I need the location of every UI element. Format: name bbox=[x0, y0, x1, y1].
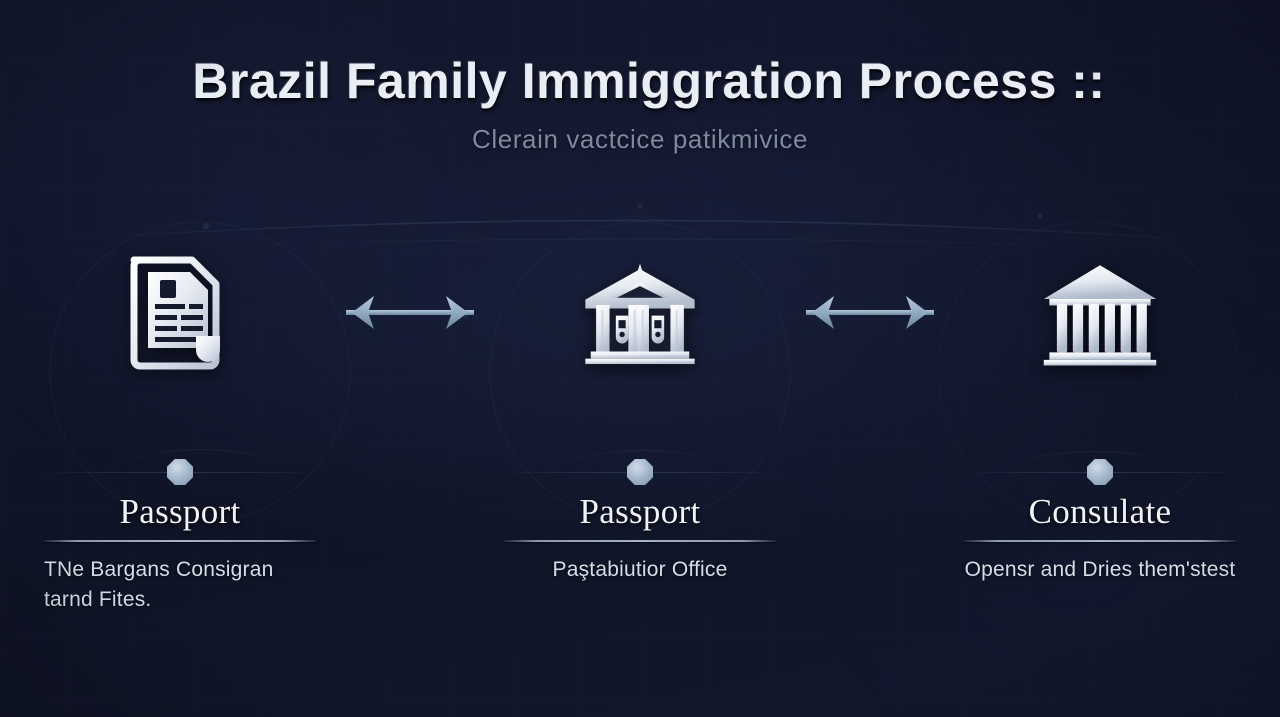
node-description: TNe Bargans Consigran tarnd Fites. bbox=[44, 555, 316, 615]
page-title: Brazil Family Immiggration Process :: bbox=[0, 52, 1280, 110]
passport-document-icon[interactable] bbox=[120, 248, 240, 378]
connector-1 bbox=[320, 248, 500, 378]
node-title: Passport bbox=[119, 494, 240, 531]
node-marker-3-slot bbox=[960, 459, 1240, 485]
labels-row: Passport TNe Bargans Consigran tarnd Fit… bbox=[0, 494, 1280, 614]
node-description: Paştabiutior Office bbox=[553, 555, 728, 585]
node-title: Passport bbox=[579, 494, 700, 531]
page-subtitle: Clerain vactcice patikmivice bbox=[0, 124, 1280, 155]
node-description: Opensr and Dries them'stest bbox=[965, 555, 1236, 585]
node-label-2: Passport Paştabiutior Office bbox=[500, 494, 780, 585]
node-marker-dot[interactable] bbox=[1087, 459, 1113, 485]
node-title: Consulate bbox=[1029, 494, 1172, 531]
title-divider bbox=[964, 540, 1236, 542]
node-marker-1-slot bbox=[40, 459, 320, 485]
node-markers-row bbox=[0, 452, 1280, 492]
connector-2 bbox=[780, 248, 960, 378]
flow-node-1[interactable] bbox=[40, 248, 320, 378]
flow-node-2[interactable] bbox=[500, 248, 780, 378]
node-marker-2-slot bbox=[500, 459, 780, 485]
diagram-canvas: Brazil Family Immiggration Process :: Cl… bbox=[0, 0, 1280, 717]
consulate-columns-building-icon[interactable] bbox=[1040, 248, 1160, 378]
double-arrow-horizontal-icon bbox=[782, 288, 958, 338]
header: Brazil Family Immiggration Process :: Cl… bbox=[0, 52, 1280, 155]
title-divider bbox=[44, 540, 316, 542]
flow-node-3[interactable] bbox=[960, 248, 1240, 378]
flow-row bbox=[0, 248, 1280, 448]
double-arrow-horizontal-icon bbox=[322, 288, 498, 338]
government-bank-building-icon[interactable] bbox=[580, 248, 700, 378]
node-label-3: Consulate Opensr and Dries them'stest bbox=[960, 494, 1240, 585]
node-marker-dot[interactable] bbox=[627, 459, 653, 485]
node-marker-dot[interactable] bbox=[167, 459, 193, 485]
title-divider bbox=[504, 540, 776, 542]
node-label-1: Passport TNe Bargans Consigran tarnd Fit… bbox=[40, 494, 320, 614]
